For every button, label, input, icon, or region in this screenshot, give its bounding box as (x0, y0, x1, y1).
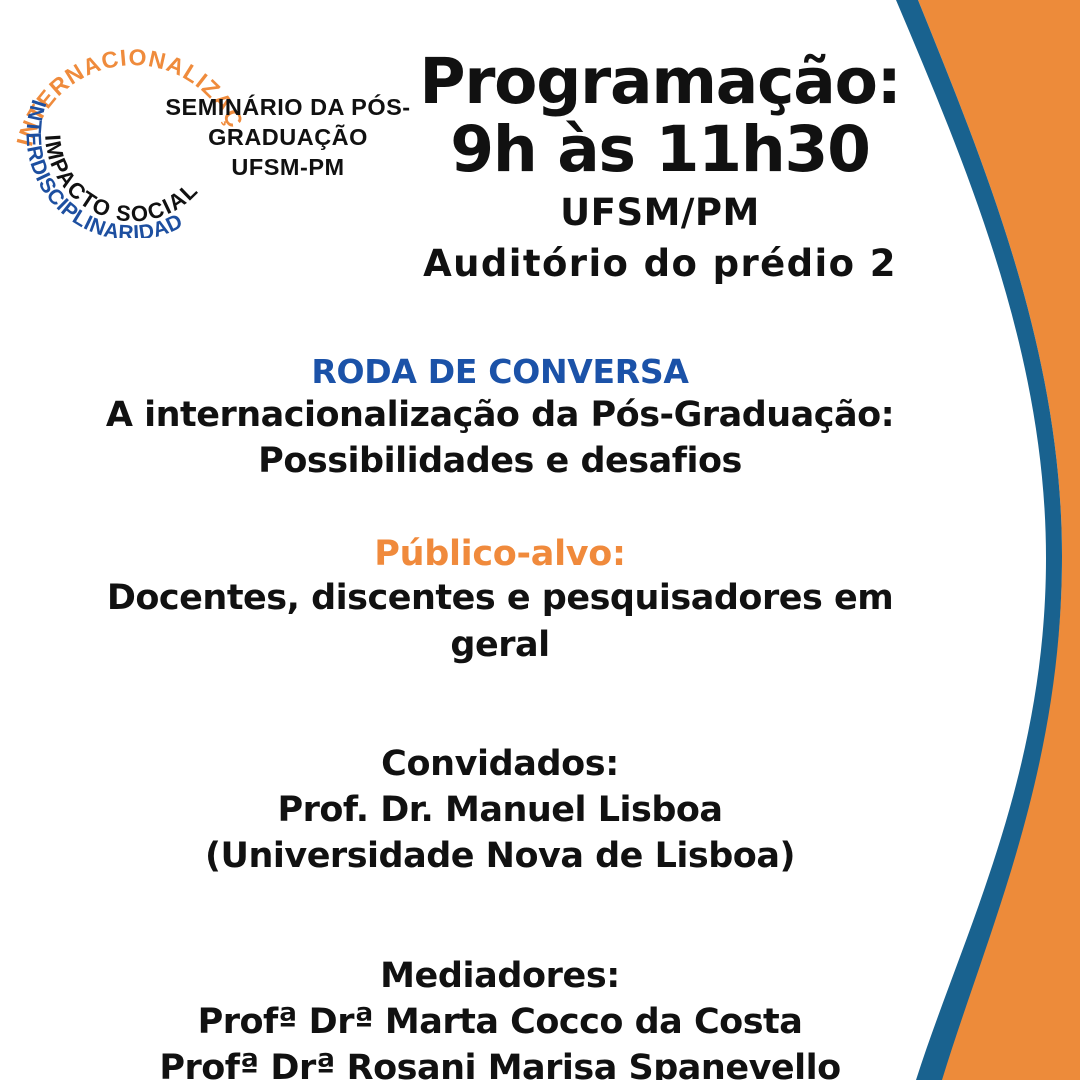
spacer-1 (60, 485, 940, 533)
mediadores-line-2: Profª Drª Rosani Marisa Spanevello (60, 1045, 940, 1080)
programacao-title-line-1: Programação: (380, 48, 940, 116)
programacao-title-line-2: 9h às 11h30 (380, 116, 940, 184)
convidados-heading: Convidados: (60, 742, 940, 788)
section-publico-alvo: Público-alvo: Docentes, discentes e pesq… (60, 533, 940, 668)
orange-wave-shape (918, 0, 1080, 1080)
convidados-line-2: (Universidade Nova de Lisboa) (60, 833, 940, 879)
publico-alvo-line-1: Docentes, discentes e pesquisadores em g… (60, 575, 940, 667)
publico-alvo-heading: Público-alvo: (60, 533, 940, 576)
venue-campus-label: UFSM/PM (380, 190, 940, 235)
convidados-line-1: Prof. Dr. Manuel Lisboa (60, 787, 940, 833)
roda-de-conversa-heading: RODA DE CONVERSA (60, 352, 940, 392)
section-mediadores: Mediadores: Profª Drª Marta Cocco da Cos… (60, 954, 940, 1080)
roda-de-conversa-line-1: A internacionalização da Pós-Graduação: (60, 392, 940, 438)
mediadores-line-1: Profª Drª Marta Cocco da Costa (60, 999, 940, 1045)
section-convidados: Convidados: Prof. Dr. Manuel Lisboa (Uni… (60, 742, 940, 880)
section-roda-de-conversa: RODA DE CONVERSA A internacionalização d… (60, 352, 940, 485)
spacer-2 (60, 668, 940, 742)
mediadores-heading: Mediadores: (60, 954, 940, 1000)
venue-room-label: Auditório do prédio 2 (380, 241, 940, 286)
event-poster: INTERNACIONALIZAÇÃO IMPACTO SOCIAL INTER… (0, 0, 1080, 1080)
poster-body: RODA DE CONVERSA A internacionalização d… (60, 352, 940, 1080)
header-schedule-block: Programação: 9h às 11h30 UFSM/PM Auditór… (380, 48, 940, 286)
roda-de-conversa-line-2: Possibilidades e desafios (60, 438, 940, 484)
spacer-3 (60, 880, 940, 954)
